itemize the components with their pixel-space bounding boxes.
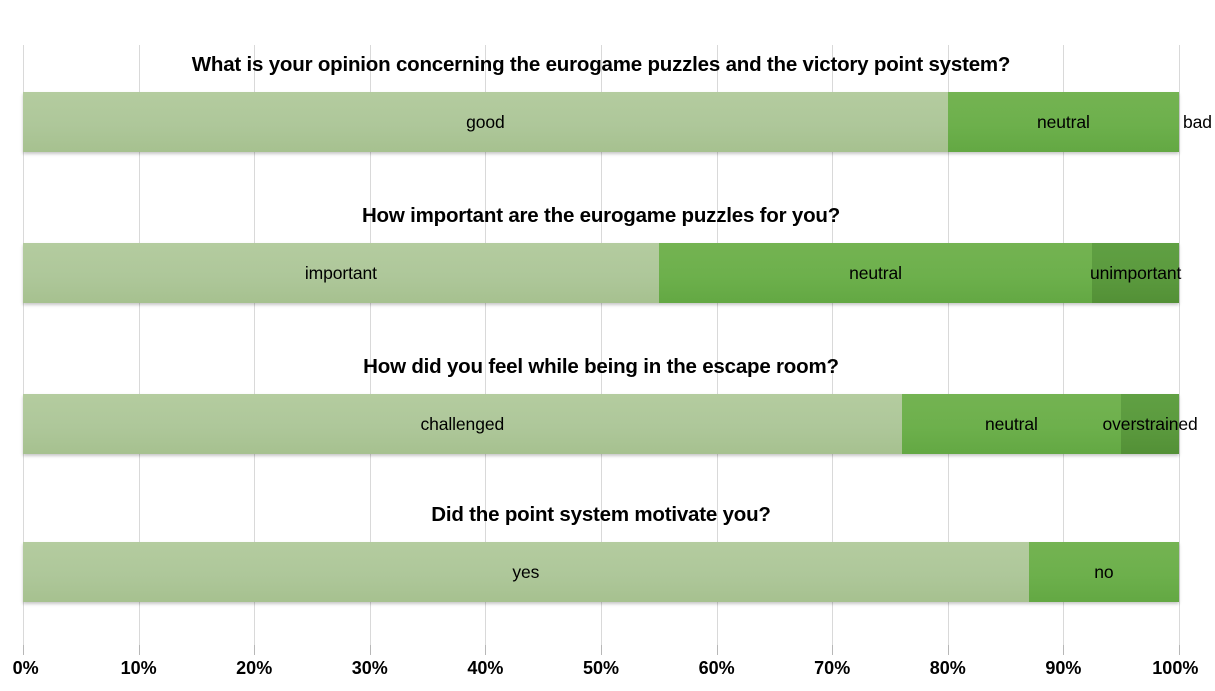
bar-title-2: How important are the eurogame puzzles f… — [23, 204, 1179, 228]
axis-tick-label: 80% — [930, 658, 966, 679]
segment-label-neutral: neutral — [1037, 112, 1090, 133]
axis-tick-label: 100% — [1152, 658, 1198, 679]
bar-segment-yes[interactable]: yes — [23, 542, 1029, 602]
axis-tick-label: 20% — [236, 658, 272, 679]
bar-segment-no[interactable]: no — [1029, 542, 1179, 602]
axis-tick-mark — [1063, 645, 1064, 655]
bar-segment-neutral[interactable]: neutral — [659, 243, 1093, 303]
bar-stack-3: challenged neutral overstrained — [23, 394, 1179, 454]
axis-tick-mark — [717, 645, 718, 655]
segment-label-no: no — [1094, 562, 1113, 583]
axis-tick-label: 70% — [814, 658, 850, 679]
axis-tick-mark — [601, 645, 602, 655]
segment-label-neutral: neutral — [985, 414, 1038, 435]
segment-label-important: important — [305, 263, 377, 284]
segment-label-bad: bad — [1183, 112, 1212, 133]
bar-stack-2: important neutral unimportant — [23, 243, 1179, 303]
axis-tick-mark — [23, 645, 24, 655]
bar-segment-challenged[interactable]: challenged — [23, 394, 902, 454]
bar-segment-important[interactable]: important — [23, 243, 659, 303]
axis-tick-label: 40% — [467, 658, 503, 679]
segment-label-neutral: neutral — [849, 263, 902, 284]
axis-tick-mark — [254, 645, 255, 655]
stacked-bar-chart: What is your opinion concerning the euro… — [0, 0, 1215, 691]
segment-label-overstrained: overstrained — [1103, 414, 1198, 435]
bar-title-1: What is your opinion concerning the euro… — [23, 53, 1179, 77]
axis-tick-mark — [1179, 645, 1180, 655]
axis-tick-label: 50% — [583, 658, 619, 679]
x-axis: 0%10%20%30%40%50%60%70%80%90%100% — [0, 645, 1215, 691]
segment-label-yes: yes — [512, 562, 539, 583]
bar-segment-neutral[interactable]: neutral — [902, 394, 1122, 454]
axis-tick-label: 90% — [1045, 658, 1081, 679]
axis-tick-label: 30% — [352, 658, 388, 679]
axis-tick-label: 0% — [13, 658, 39, 679]
bar-segment-overstrained[interactable]: overstrained — [1121, 394, 1179, 454]
bar-group-2: How important are the eurogame puzzles f… — [23, 196, 1179, 303]
segment-label-challenged: challenged — [420, 414, 504, 435]
bar-segment-neutral[interactable]: neutral — [948, 92, 1179, 152]
bar-segment-good[interactable]: good — [23, 92, 948, 152]
bar-group-1: What is your opinion concerning the euro… — [23, 45, 1179, 152]
plot-area: What is your opinion concerning the euro… — [23, 45, 1179, 645]
gridline — [1179, 45, 1180, 645]
axis-tick-mark — [485, 645, 486, 655]
axis-tick-mark — [832, 645, 833, 655]
bar-group-3: How did you feel while being in the esca… — [23, 347, 1179, 454]
axis-tick-label: 60% — [699, 658, 735, 679]
bar-segment-unimportant[interactable]: unimportant — [1092, 243, 1179, 303]
bar-title-3: How did you feel while being in the esca… — [23, 355, 1179, 379]
bar-title-4: Did the point system motivate you? — [23, 503, 1179, 527]
axis-tick-mark — [370, 645, 371, 655]
bar-group-4: Did the point system motivate you? yes n… — [23, 495, 1179, 602]
axis-tick-mark — [948, 645, 949, 655]
bar-stack-1: good neutral bad — [23, 92, 1179, 152]
axis-tick-label: 10% — [121, 658, 157, 679]
axis-tick-mark — [139, 645, 140, 655]
segment-label-good: good — [466, 112, 505, 133]
segment-label-unimportant: unimportant — [1090, 263, 1181, 284]
bar-stack-4: yes no — [23, 542, 1179, 602]
